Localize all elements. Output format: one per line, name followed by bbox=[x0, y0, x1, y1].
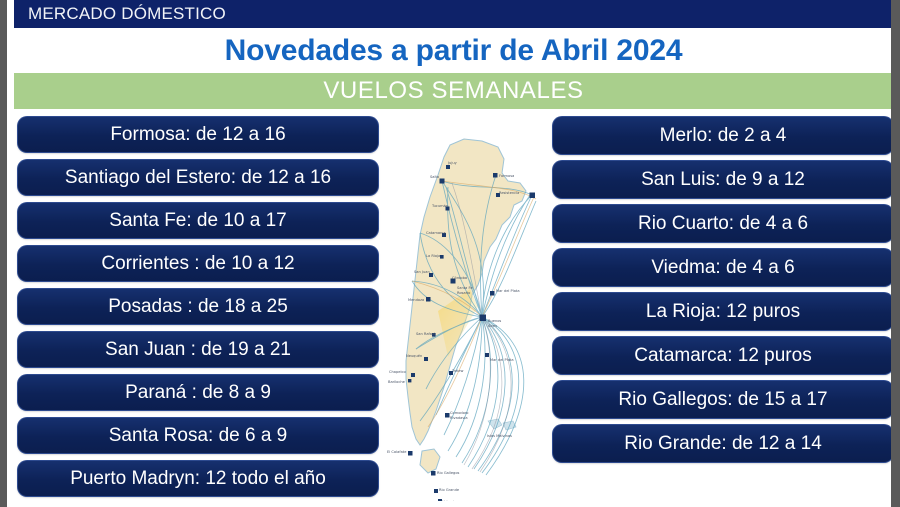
route-label: Merlo: de 2 a 4 bbox=[660, 125, 787, 147]
svg-text:Rio Grande: Rio Grande bbox=[439, 488, 460, 492]
route-label: La Rioja: 12 puros bbox=[646, 301, 800, 323]
svg-text:Mar del Plata: Mar del Plata bbox=[496, 289, 520, 293]
route-label: Viedma: de 4 a 6 bbox=[651, 257, 794, 279]
svg-text:Rosario: Rosario bbox=[457, 291, 470, 295]
route-label: Rio Gallegos: de 15 a 17 bbox=[618, 389, 827, 411]
page-title: Novedades a partir de Abril 2024 bbox=[225, 34, 683, 68]
left-route-list: Formosa: de 12 a 16Santiago del Estero: … bbox=[18, 117, 378, 496]
route-label: Rio Cuarto: de 4 a 6 bbox=[638, 213, 808, 235]
header-bar-label: MERCADO DÓMESTICO bbox=[14, 4, 226, 24]
svg-text:Ushuaia: Ushuaia bbox=[442, 500, 456, 501]
right-route-list: Merlo: de 2 a 4San Luis: de 9 a 12Rio Cu… bbox=[553, 117, 893, 462]
route-label: Rio Grande: de 12 a 14 bbox=[624, 433, 822, 455]
route-pill-left-7[interactable]: Santa Rosa: de 6 a 9 bbox=[18, 418, 378, 453]
route-pill-right-7[interactable]: Rio Grande: de 12 a 14 bbox=[553, 425, 893, 462]
route-label: Santa Rosa: de 6 a 9 bbox=[109, 425, 288, 447]
svg-text:Comodoro: Comodoro bbox=[450, 411, 469, 415]
svg-text:Bariloche: Bariloche bbox=[388, 380, 406, 384]
route-label: Santa Fe: de 10 a 17 bbox=[109, 210, 286, 232]
svg-text:Rio Gallegos: Rio Gallegos bbox=[437, 471, 460, 475]
argentina-route-map: Jujuy Salta Tucumán Formosa Resistencia … bbox=[386, 121, 554, 501]
route-pill-left-8[interactable]: Puerto Madryn: 12 todo el año bbox=[18, 461, 378, 496]
svg-text:Resistencia: Resistencia bbox=[499, 191, 519, 195]
svg-text:Córdoba: Córdoba bbox=[452, 276, 467, 280]
svg-text:Buenos: Buenos bbox=[488, 319, 501, 323]
svg-text:Santa Fe: Santa Fe bbox=[457, 286, 473, 290]
svg-text:Islas Malvinas: Islas Malvinas bbox=[487, 434, 512, 438]
route-label: Corrientes : de 10 a 12 bbox=[101, 253, 294, 275]
route-label: Puerto Madryn: 12 todo el año bbox=[70, 468, 326, 490]
svg-text:Rivadavia: Rivadavia bbox=[450, 416, 468, 420]
route-label: Santiago del Estero: de 12 a 16 bbox=[65, 167, 331, 189]
route-pill-left-0[interactable]: Formosa: de 12 a 16 bbox=[18, 117, 378, 152]
route-pill-left-1[interactable]: Santiago del Estero: de 12 a 16 bbox=[18, 160, 378, 195]
header-bar: MERCADO DÓMESTICO bbox=[14, 0, 893, 28]
route-label: Catamarca: 12 puros bbox=[634, 345, 811, 367]
svg-text:Trelew: Trelew bbox=[451, 369, 463, 373]
svg-text:Neuquén: Neuquén bbox=[406, 354, 422, 358]
subtitle-band: VUELOS SEMANALES bbox=[14, 73, 893, 109]
svg-text:Aires: Aires bbox=[488, 324, 497, 328]
route-pill-right-3[interactable]: Viedma: de 4 a 6 bbox=[553, 249, 893, 286]
content-area: Formosa: de 12 a 16Santiago del Estero: … bbox=[14, 109, 893, 507]
route-pill-left-2[interactable]: Santa Fe: de 10 a 17 bbox=[18, 203, 378, 238]
slide: MERCADO DÓMESTICO Novedades a partir de … bbox=[0, 0, 900, 507]
svg-text:Jujuy: Jujuy bbox=[447, 161, 458, 165]
svg-text:Formosa: Formosa bbox=[499, 174, 514, 178]
title-band: Novedades a partir de Abril 2024 bbox=[14, 28, 893, 73]
route-pill-right-5[interactable]: Catamarca: 12 puros bbox=[553, 337, 893, 374]
svg-text:Catamarca: Catamarca bbox=[426, 231, 446, 235]
route-label: San Juan : de 19 a 21 bbox=[105, 339, 291, 361]
route-pill-right-4[interactable]: La Rioja: 12 puros bbox=[553, 293, 893, 330]
svg-text:San Rafael: San Rafael bbox=[416, 332, 435, 336]
route-pill-left-5[interactable]: San Juan : de 19 a 21 bbox=[18, 332, 378, 367]
route-label: San Luis: de 9 a 12 bbox=[641, 169, 805, 191]
route-pill-left-6[interactable]: Paraná : de 8 a 9 bbox=[18, 375, 378, 410]
route-pill-left-3[interactable]: Corrientes : de 10 a 12 bbox=[18, 246, 378, 281]
svg-text:Mar del Plata: Mar del Plata bbox=[490, 358, 514, 362]
route-label: Posadas : de 18 a 25 bbox=[108, 296, 288, 318]
route-label: Paraná : de 8 a 9 bbox=[125, 382, 271, 404]
svg-text:San Juan: San Juan bbox=[414, 270, 430, 274]
route-pill-right-6[interactable]: Rio Gallegos: de 15 a 17 bbox=[553, 381, 893, 418]
route-pill-left-4[interactable]: Posadas : de 18 a 25 bbox=[18, 289, 378, 324]
svg-text:El Calafate: El Calafate bbox=[387, 450, 407, 454]
route-pill-right-0[interactable]: Merlo: de 2 a 4 bbox=[553, 117, 893, 154]
svg-text:Chapelco: Chapelco bbox=[389, 370, 406, 374]
route-pill-right-2[interactable]: Rio Cuarto: de 4 a 6 bbox=[553, 205, 893, 242]
route-label: Formosa: de 12 a 16 bbox=[110, 124, 285, 146]
svg-text:Salta: Salta bbox=[430, 175, 439, 179]
svg-text:Mendoza: Mendoza bbox=[408, 298, 424, 302]
svg-text:Tucumán: Tucumán bbox=[431, 204, 448, 208]
page-subtitle: VUELOS SEMANALES bbox=[323, 77, 583, 105]
svg-text:La Rioja: La Rioja bbox=[426, 254, 440, 258]
route-pill-right-1[interactable]: San Luis: de 9 a 12 bbox=[553, 161, 893, 198]
